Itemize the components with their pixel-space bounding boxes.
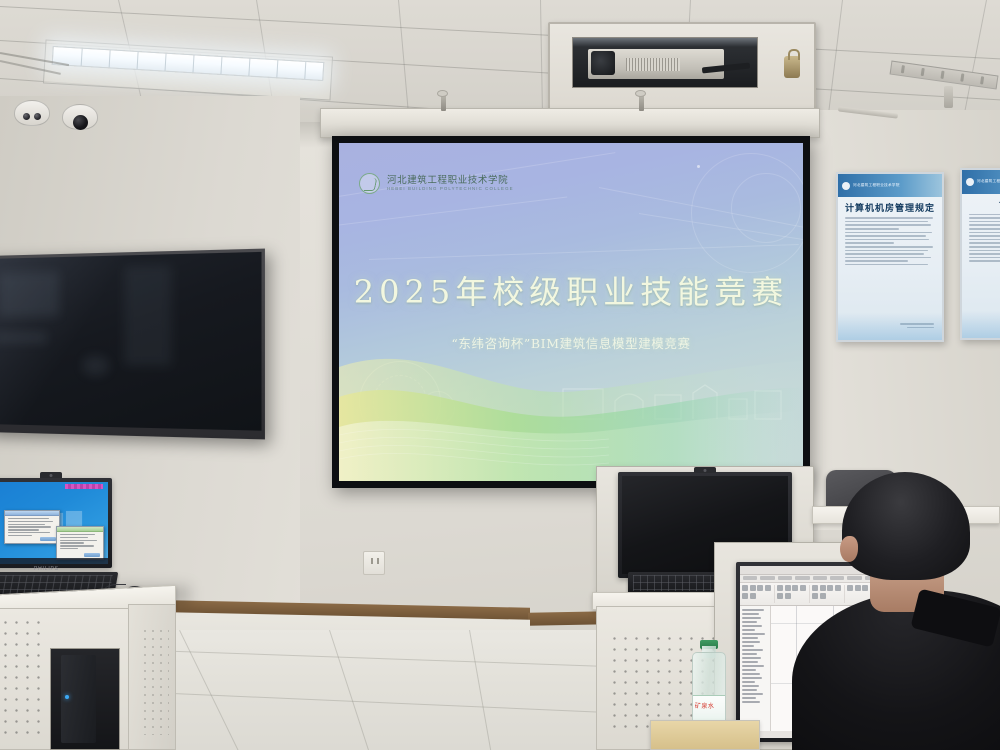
pc-tower (61, 655, 96, 743)
windows-desktop (0, 482, 108, 564)
poster-body-text (845, 217, 934, 313)
poster-logo-icon (842, 182, 850, 190)
poster-title: 计算机 (962, 197, 1000, 210)
poster-header-bar: 河北建筑工程职业技术学院 (962, 170, 1000, 194)
dialog-content (57, 532, 103, 551)
pink-banner-strip (65, 484, 104, 488)
pc-power-led-icon (65, 695, 69, 699)
projector-security-cage (548, 22, 816, 110)
wall-poster-1: 河北建筑工程职业技术学院 计算机机房管理规定 (836, 172, 944, 342)
classroom-photo-scene: 河北建筑工程职业技术学院 HEBEI BUILDING POLYTECHNIC … (0, 0, 1000, 750)
monitor-webcam-icon (694, 467, 716, 473)
left-monitor[interactable] (0, 478, 112, 568)
slide-title: 2025年校级职业技能竞赛 (339, 267, 803, 313)
left-desk-side-panel (128, 604, 176, 750)
dome-camera-left (14, 100, 50, 130)
dialog-content (5, 516, 59, 538)
projection-screen-valance (320, 108, 820, 138)
seated-student (826, 472, 1000, 750)
projection-screen: 河北建筑工程职业技术学院 HEBEI BUILDING POLYTECHNIC … (332, 136, 810, 488)
dome-camera-right (62, 104, 98, 136)
padlock-icon (784, 56, 800, 78)
projector-vent (626, 58, 680, 71)
dialog-ok-button[interactable] (84, 553, 100, 557)
system-info-dialog[interactable] (4, 510, 60, 544)
slide-wave-graphic (339, 331, 803, 481)
poster-body-text (969, 214, 1000, 311)
college-emblem-icon (359, 173, 380, 194)
poster-logo-icon (966, 178, 974, 186)
slide-org-name-en: HEBEI BUILDING POLYTECHNIC COLLEGE (387, 187, 514, 192)
projector-window (572, 37, 758, 88)
front-desk-top (650, 720, 760, 750)
wall-power-outlet[interactable] (363, 551, 385, 575)
ceiling-air-vent (890, 61, 999, 90)
dialog-ok-button[interactable] (40, 537, 56, 541)
wall-mounted-tv[interactable] (0, 249, 265, 440)
slide-institution-logo: 河北建筑工程职业技术学院 HEBEI BUILDING POLYTECHNIC … (359, 173, 514, 194)
person-head (842, 472, 970, 580)
secondary-dialog[interactable] (56, 526, 104, 560)
poster-header-bar: 河北建筑工程职业技术学院 (838, 174, 942, 197)
windows-taskbar[interactable] (0, 558, 108, 564)
poster-org-name: 河北建筑工程职业技术学院 (977, 179, 1000, 184)
poster-wave-decoration (962, 311, 1000, 338)
wall-pipe (944, 86, 953, 108)
person-ear (840, 536, 858, 562)
poster-title: 计算机机房管理规定 (838, 201, 942, 214)
poster-wave-decoration (838, 313, 942, 340)
wall-poster-2: 河北建筑工程职业技术学院 计算机 (960, 168, 1000, 340)
pc-tower-bay (50, 648, 120, 750)
projector-lens (591, 51, 615, 76)
slide-org-name-cn: 河北建筑工程职业技术学院 (387, 176, 514, 186)
project-browser-tree[interactable] (740, 606, 771, 732)
bottle-label-text: 矿泉水 (695, 701, 715, 710)
monitor-webcam-icon (40, 472, 62, 478)
presentation-slide: 河北建筑工程职业技术学院 HEBEI BUILDING POLYTECHNIC … (339, 143, 803, 481)
left-monitor-screen (0, 482, 108, 564)
tv-screen (0, 252, 262, 431)
poster-org-name: 河北建筑工程职业技术学院 (853, 183, 900, 188)
